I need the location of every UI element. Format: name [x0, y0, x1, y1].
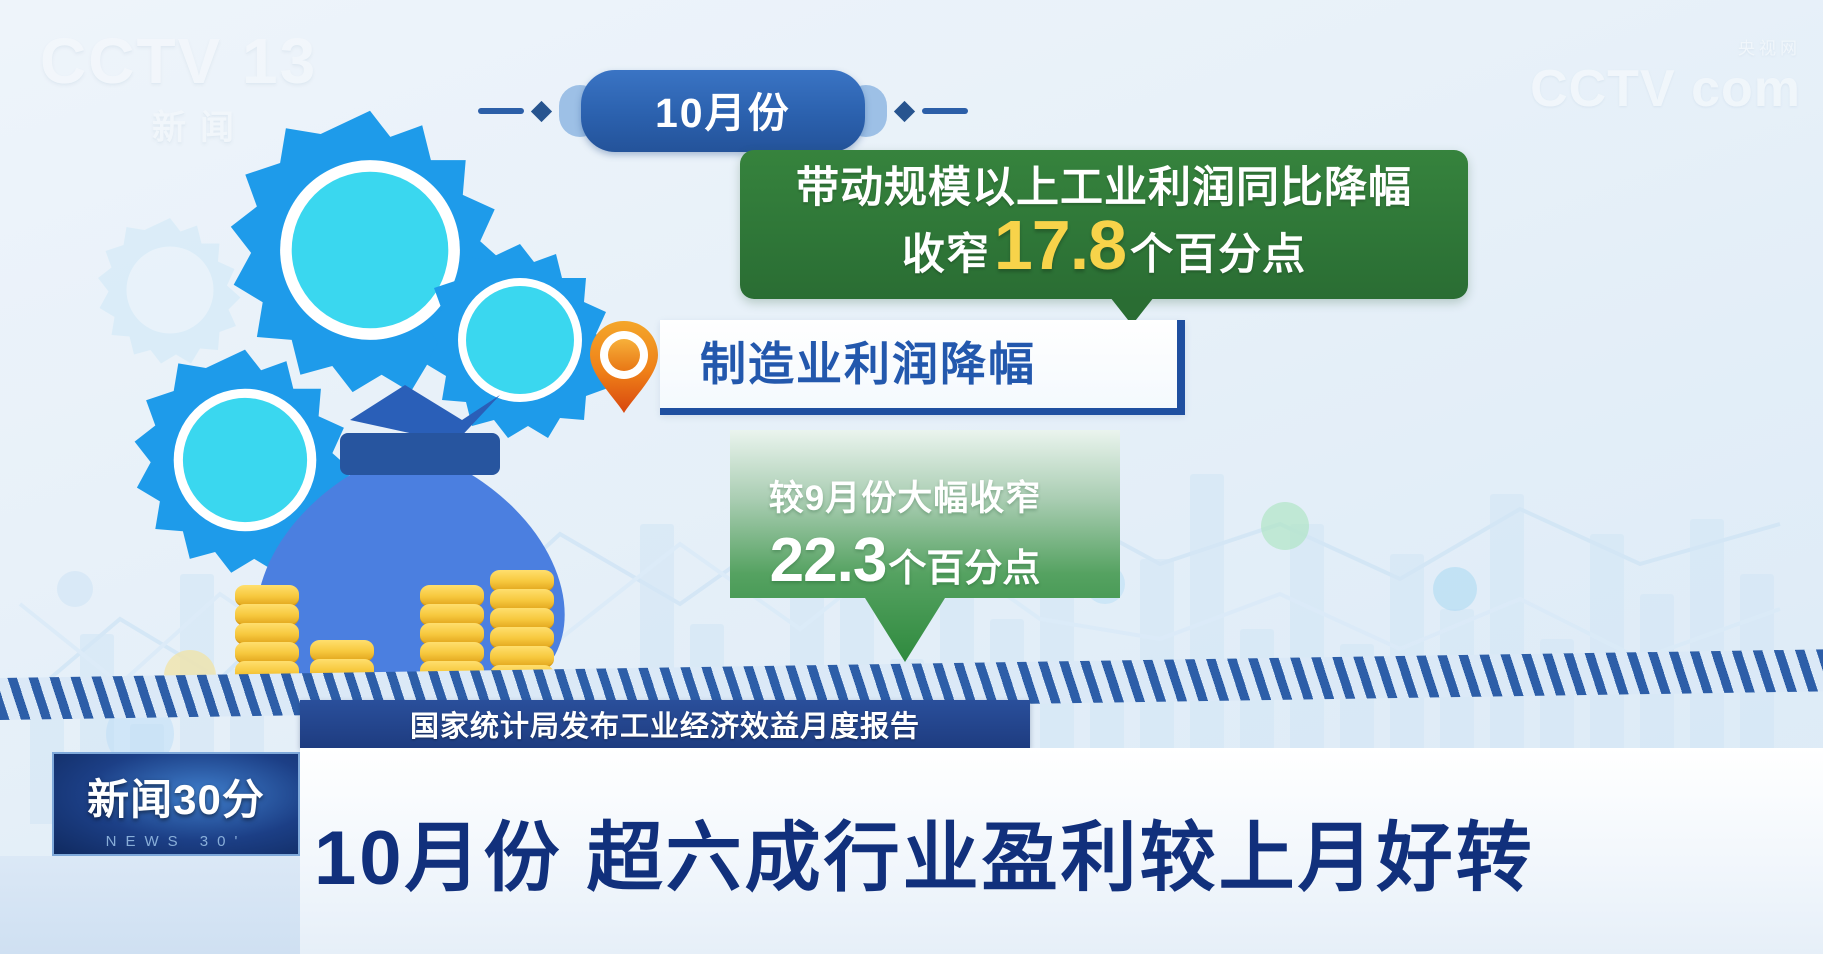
arrow-callout-unit: 个百分点: [888, 537, 1040, 592]
green-banner-unit: 个百分点: [1130, 231, 1306, 279]
program-logo: 新闻30分 NEWS 30': [52, 752, 300, 856]
decor-dash-right: [922, 108, 968, 114]
arrow-callout: 较9月份大幅收窄 22.3 个百分点: [690, 430, 1120, 665]
gear-icon-ghost: [95, 215, 245, 365]
white-banner-label: 制造业利润降幅: [660, 320, 1185, 408]
program-logo-en: NEWS 30': [54, 833, 298, 850]
cctvcom-watermark-cn: 央视网: [1530, 34, 1801, 59]
lower-third-ribbon: 国家统计局发布工业经济效益月度报告: [300, 700, 1030, 748]
green-banner-value: 17.8: [994, 212, 1126, 279]
month-badge-row: 10月份: [478, 70, 968, 152]
lower-third-headline-bar: 10月份 超六成行业盈利较上月好转: [300, 748, 1823, 954]
program-logo-cn: 新闻30分: [54, 766, 298, 827]
white-label-banner: 制造业利润降幅: [660, 320, 1185, 415]
cctv13-watermark-text: CCTV 13: [40, 24, 360, 98]
decor-diamond-right: [894, 100, 915, 121]
decor-diamond-left: [531, 100, 552, 121]
map-pin-icon: [585, 318, 663, 416]
arrow-callout-line1: 较9月份大幅收窄: [690, 470, 1120, 521]
green-banner-line1: 带动规模以上工业利润同比降幅: [766, 164, 1442, 212]
green-banner-prefix: 收窄: [902, 231, 990, 279]
month-badge[interactable]: 10月份: [581, 70, 865, 152]
green-banner-line2: 收窄 17.8 个百分点: [766, 212, 1442, 279]
cctvcom-watermark-text: CCTV com: [1530, 59, 1801, 119]
white-banner-right-bar: [1177, 320, 1185, 408]
broadcast-screenshot: CCTV 13 新闻 央视网 CCTV com: [0, 0, 1823, 954]
decor-dash-left: [478, 108, 524, 114]
green-stat-banner: 带动规模以上工业利润同比降幅 收窄 17.8 个百分点: [740, 150, 1468, 299]
arrow-callout-value: 22.3: [770, 525, 887, 596]
cctvcom-watermark: 央视网 CCTV com: [1530, 34, 1801, 119]
arrow-callout-line2: 22.3 个百分点: [690, 525, 1120, 596]
arrow-callout-text: 较9月份大幅收窄 22.3 个百分点: [690, 430, 1120, 596]
lower-third-headline: 10月份 超六成行业盈利较上月好转: [300, 796, 1535, 906]
lower-third-ribbon-text: 国家统计局发布工业经济效益月度报告: [410, 703, 920, 745]
lower-third-left-fill: [0, 856, 300, 954]
